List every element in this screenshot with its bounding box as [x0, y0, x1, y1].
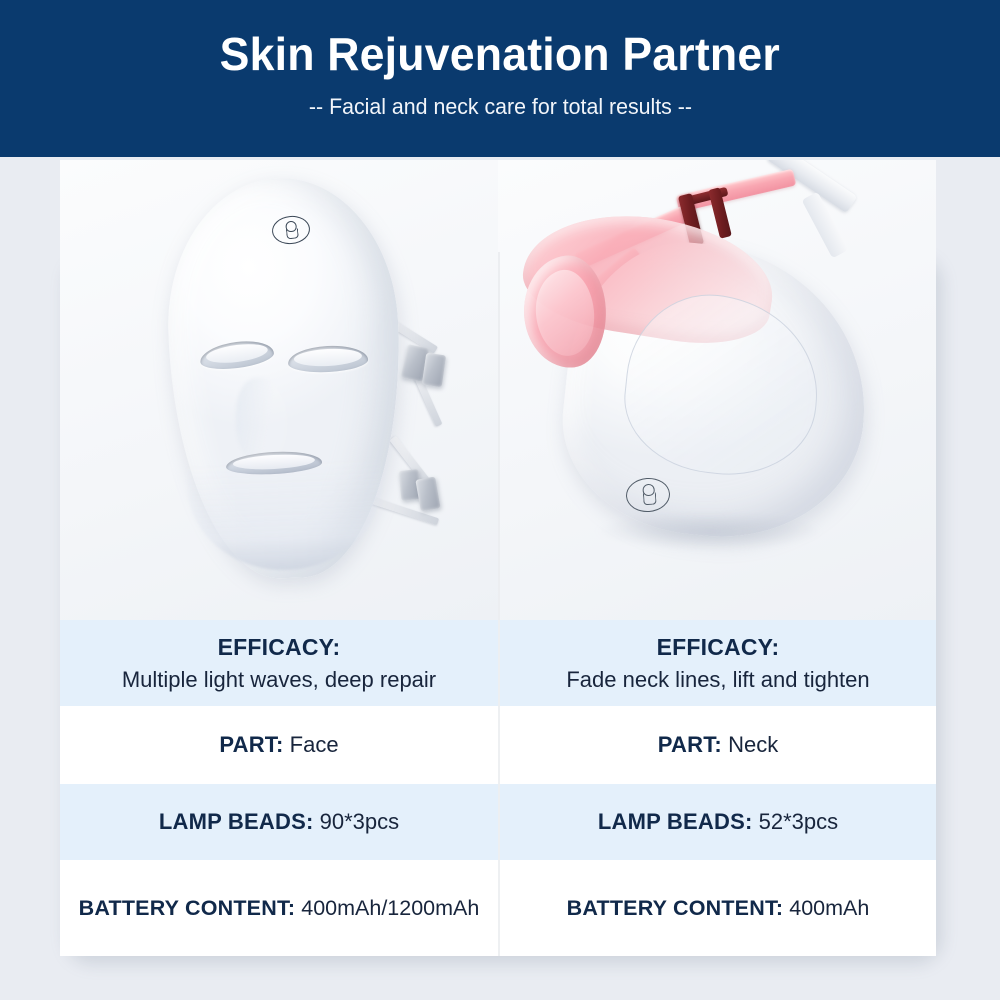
neck-strap-white-right: [767, 160, 858, 213]
battery-value-neck: 400mAh: [789, 896, 869, 920]
efficacy-label-face: EFFICACY:: [218, 632, 341, 662]
spec-row-efficacy: EFFICACY: Multiple light waves, deep rep…: [60, 620, 936, 706]
lamp-beads-label-neck: LAMP BEADS:: [598, 809, 753, 834]
spec-cell-efficacy-face: EFFICACY: Multiple light waves, deep rep…: [60, 620, 498, 706]
battery-line-face: BATTERY CONTENT: 400mAh/1200mAh: [79, 893, 480, 923]
lamp-line-neck: LAMP BEADS: 52*3pcs: [598, 807, 838, 837]
part-label-face: PART:: [219, 732, 283, 757]
spec-cell-part-neck: PART: Neck: [498, 706, 936, 784]
lamp-beads-value-face: 90*3pcs: [320, 809, 400, 834]
part-line-face: PART: Face: [219, 730, 338, 760]
part-line-neck: PART: Neck: [658, 730, 778, 760]
battery-line-neck: BATTERY CONTENT: 400mAh: [567, 893, 870, 923]
spec-cell-lamp-face: LAMP BEADS: 90*3pcs: [60, 784, 498, 860]
lamp-beads-label-face: LAMP BEADS:: [159, 809, 314, 834]
spec-row-part: PART: Face PART: Neck: [60, 706, 936, 784]
part-label-neck: PART:: [658, 732, 722, 757]
lamp-beads-value-neck: 52*3pcs: [759, 809, 839, 834]
spec-cell-efficacy-neck: EFFICACY: Fade neck lines, lift and tigh…: [498, 620, 936, 706]
page-title: Skin Rejuvenation Partner: [220, 26, 780, 82]
spec-cell-part-face: PART: Face: [60, 706, 498, 784]
part-value-neck: Neck: [728, 732, 778, 757]
neck-strap-white-lower: [802, 192, 849, 259]
battery-label-face: BATTERY CONTENT:: [79, 896, 296, 920]
page-subtitle: -- Facial and neck care for total result…: [308, 92, 691, 122]
battery-value-face: 400mAh/1200mAh: [301, 896, 479, 920]
power-touch-button-icon: [271, 214, 312, 246]
part-value-face: Face: [290, 732, 339, 757]
header-banner: Skin Rejuvenation Partner -- Facial and …: [0, 0, 1000, 157]
efficacy-value-face: Multiple light waves, deep repair: [122, 665, 436, 695]
strap-buckle-right: [708, 187, 732, 238]
efficacy-label-neck: EFFICACY:: [657, 632, 780, 662]
column-divider: [498, 252, 500, 620]
spec-row-battery: BATTERY CONTENT: 400mAh/1200mAh BATTERY …: [60, 860, 936, 956]
spec-cell-lamp-neck: LAMP BEADS: 52*3pcs: [498, 784, 936, 860]
product-infographic-page: Skin Rejuvenation Partner -- Facial and …: [0, 0, 1000, 1000]
battery-label-neck: BATTERY CONTENT:: [567, 896, 784, 920]
strap-buckle-left: [678, 193, 704, 247]
lamp-line-face: LAMP BEADS: 90*3pcs: [159, 807, 399, 837]
spec-cell-battery-face: BATTERY CONTENT: 400mAh/1200mAh: [60, 860, 498, 956]
strap-buckle-bar: [684, 187, 729, 206]
efficacy-value-neck: Fade neck lines, lift and tighten: [566, 665, 869, 695]
spec-cell-battery-neck: BATTERY CONTENT: 400mAh: [498, 860, 936, 956]
spec-row-lamp-beads: LAMP BEADS: 90*3pcs LAMP BEADS: 52*3pcs: [60, 784, 936, 860]
neck-strap-upper-right: [676, 169, 797, 213]
spec-table: EFFICACY: Multiple light waves, deep rep…: [60, 620, 936, 956]
